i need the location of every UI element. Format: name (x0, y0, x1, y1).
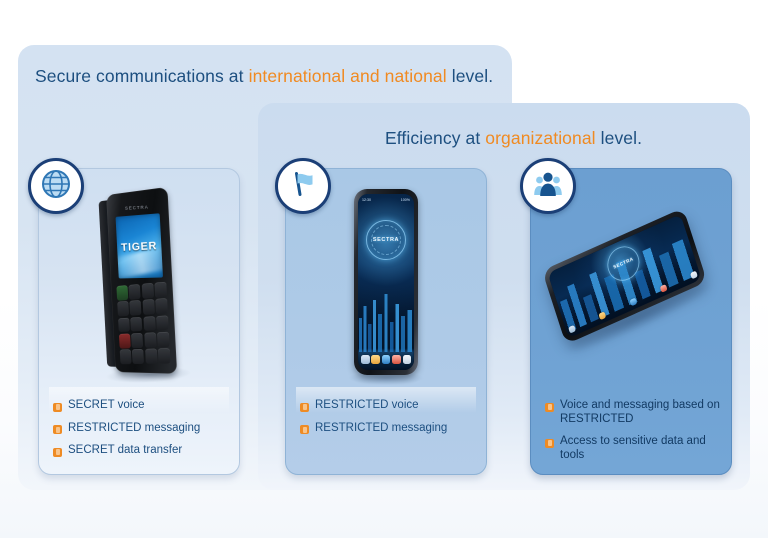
headline-organizational-highlight: organizational (485, 128, 595, 148)
card-restricted-mobile: 12:30 100% SECTRA (285, 168, 487, 475)
keypad-key (142, 299, 154, 315)
keypad-key (158, 348, 171, 363)
badge-international (28, 158, 84, 214)
headline-international: Secure communications at international a… (35, 66, 493, 87)
bullet-square-icon (300, 403, 309, 412)
card-international: SECTRA TIGER (38, 168, 240, 475)
keypad-key (155, 298, 168, 314)
badge-organizational (520, 158, 576, 214)
list-item-label: RESTRICTED messaging (315, 422, 447, 436)
bullet-square-icon (545, 439, 554, 448)
app-icon (382, 355, 391, 364)
feature-list-restricted: RESTRICTED voice RESTRICTED messaging (300, 399, 476, 444)
keypad-key (129, 284, 141, 300)
card-organizational: SECTRA Voice and messaging based on REST… (530, 168, 732, 475)
app-dock (361, 354, 411, 365)
list-item: Voice and messaging based on RESTRICTED (545, 399, 721, 426)
keypad-key (144, 332, 156, 347)
list-item: RESTRICTED voice (300, 399, 476, 413)
globe-icon (40, 168, 72, 205)
list-item-label: SECRET voice (68, 399, 144, 413)
list-item: Access to sensitive data and tools (545, 435, 721, 462)
headline-organizational: Efficiency at organizational level. (385, 128, 642, 149)
app-icon (371, 355, 380, 364)
keypad-key (118, 317, 130, 332)
phone-screen: TIGER (116, 213, 163, 278)
keypad-key (157, 332, 170, 347)
keypad-key-end (119, 333, 131, 348)
device-smartphone: 12:30 100% SECTRA (326, 189, 446, 389)
keypad-key (131, 333, 143, 348)
list-item: SECRET voice (53, 399, 229, 413)
headline-international-prefix: Secure communications at (35, 66, 249, 86)
app-icon (403, 355, 412, 364)
bullet-square-icon (300, 425, 309, 434)
app-icon (568, 325, 576, 334)
headline-organizational-suffix: level. (596, 128, 642, 148)
people-icon (532, 168, 564, 205)
bullet-square-icon (545, 403, 554, 412)
keypad-key (120, 350, 132, 365)
slide-canvas: Secure communications at international a… (0, 0, 768, 538)
app-icon (660, 284, 668, 293)
headline-international-suffix: level. (447, 66, 493, 86)
keypad-key (143, 316, 155, 331)
app-icon (599, 311, 607, 320)
feature-list-organizational: Voice and messaging based on RESTRICTED … (545, 399, 721, 471)
keypad-key (145, 349, 157, 364)
phone-body: 12:30 100% SECTRA (354, 189, 418, 375)
phone-screen-label: TIGER (121, 240, 158, 254)
device-feature-phone: SECTRA TIGER (86, 189, 196, 389)
list-item-label: Voice and messaging based on RESTRICTED (560, 399, 721, 426)
city-skyline-graphic (358, 282, 414, 352)
status-battery: 100% (401, 198, 410, 202)
badge-national (275, 158, 331, 214)
flag-icon (287, 168, 319, 205)
keypad-key (130, 317, 142, 332)
status-bar: 12:30 100% (362, 197, 410, 203)
bullet-square-icon (53, 403, 62, 412)
keypad-key (154, 282, 167, 298)
keypad-key (141, 283, 153, 299)
keypad-key (130, 300, 142, 315)
keypad-key (117, 301, 129, 316)
list-item: RESTRICTED messaging (300, 422, 476, 436)
device-smartphone-tilted: SECTRA (531, 194, 734, 397)
status-time: 12:30 (362, 198, 371, 202)
list-item: SECRET data transfer (53, 444, 229, 458)
list-item-label: SECRET data transfer (68, 444, 182, 458)
app-icon (361, 355, 370, 364)
keypad-key-call (116, 285, 128, 300)
keypad-key (132, 349, 144, 364)
emblem-label: SECTRA (373, 237, 399, 243)
bullet-square-icon (53, 425, 62, 434)
emblem-label: SECTRA (613, 256, 635, 270)
feature-list-international: SECRET voice RESTRICTED messaging SECRET… (53, 399, 229, 467)
list-item-label: Access to sensitive data and tools (560, 435, 721, 462)
sectra-emblem: SECTRA (366, 220, 406, 260)
headline-international-highlight: international and national (249, 66, 447, 86)
list-item-label: RESTRICTED voice (315, 399, 419, 413)
list-item: RESTRICTED messaging (53, 422, 229, 436)
keypad-key (156, 315, 169, 331)
app-icon (629, 298, 637, 307)
headline-organizational-prefix: Efficiency at (385, 128, 485, 148)
list-item-label: RESTRICTED messaging (68, 422, 200, 436)
app-icon (392, 355, 401, 364)
phone-screen: 12:30 100% SECTRA (358, 194, 414, 370)
phone-keypad (116, 282, 170, 365)
bullet-square-icon (53, 448, 62, 457)
